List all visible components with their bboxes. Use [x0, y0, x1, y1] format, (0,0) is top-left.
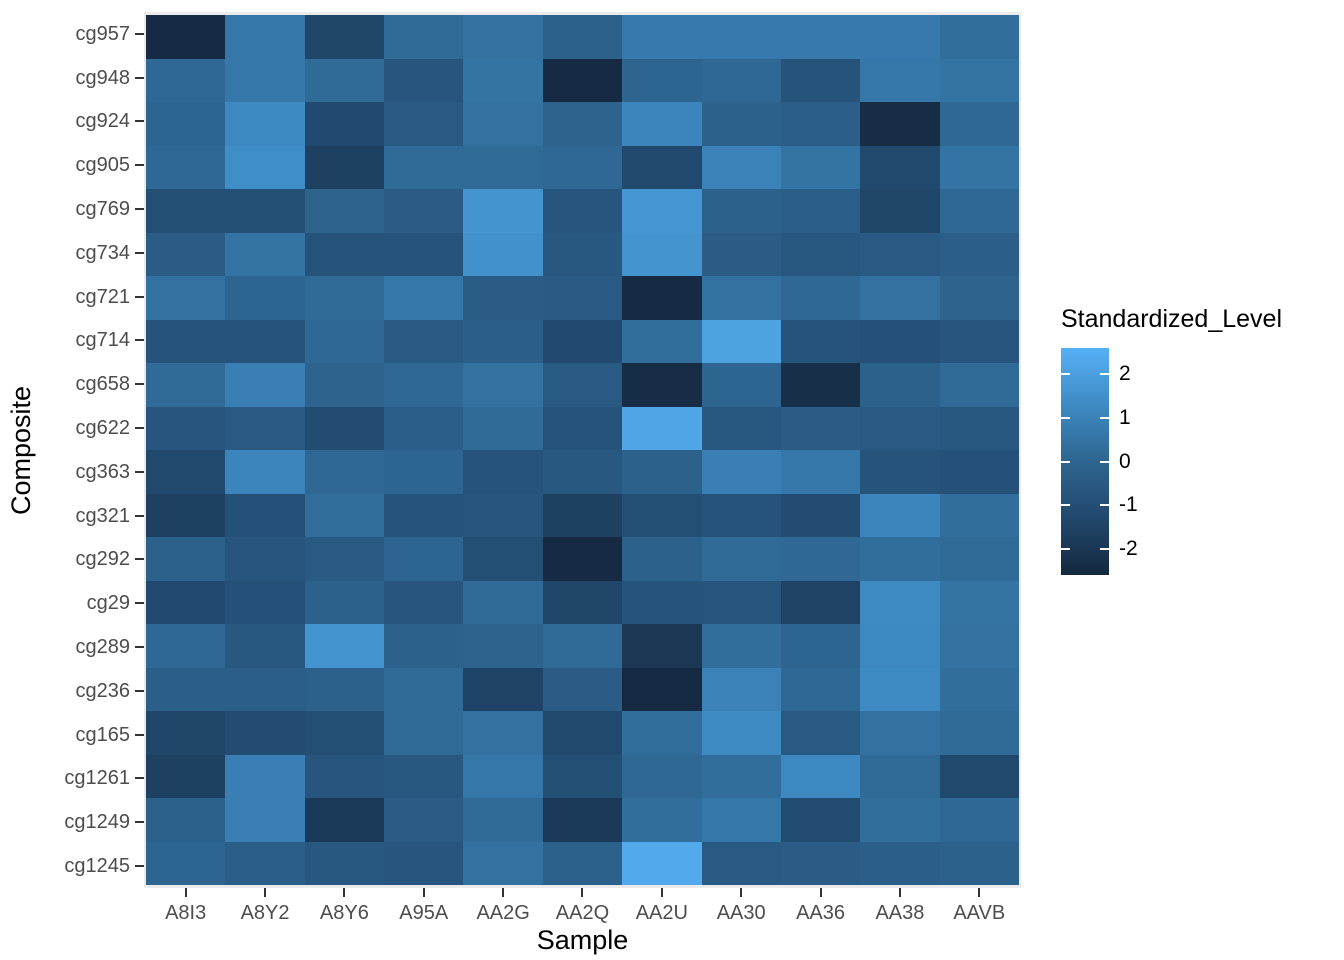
heatmap-cell: [622, 59, 701, 103]
heatmap-cell: [702, 798, 781, 842]
heatmap-cell: [543, 233, 622, 277]
heatmap-cell: [860, 450, 939, 494]
heatmap-cell: [305, 798, 384, 842]
legend-tick-mark-left: [1061, 548, 1070, 550]
legend-tick-mark-right: [1100, 504, 1109, 506]
heatmap-cell: [781, 407, 860, 451]
heatmap-cell: [702, 711, 781, 755]
heatmap-cell: [781, 320, 860, 364]
heatmap-cell: [305, 842, 384, 886]
heatmap-cell: [384, 581, 463, 625]
heatmap-cell: [781, 146, 860, 190]
heatmap-cell: [463, 15, 542, 59]
y-tick-label: cg321: [44, 494, 132, 538]
heatmap-cell: [702, 59, 781, 103]
heatmap-cell: [146, 189, 225, 233]
heatmap-cell: [860, 842, 939, 886]
y-tick-mark: [134, 319, 144, 363]
y-tick-mark: [134, 100, 144, 144]
heatmap-cell: [702, 755, 781, 799]
x-tick-label: AA30: [702, 899, 781, 927]
heatmap-cell: [305, 407, 384, 451]
heatmap-cell: [384, 711, 463, 755]
heatmap-cell: [543, 755, 622, 799]
legend-tick-mark-right: [1100, 461, 1109, 463]
heatmap-cell: [305, 233, 384, 277]
legend: Standardized_Level 210-1-2: [1057, 305, 1327, 578]
heatmap-cell: [940, 537, 1019, 581]
x-tick-mark: [384, 888, 463, 898]
y-tick-label: cg292: [44, 538, 132, 582]
y-tick-label: cg769: [44, 187, 132, 231]
heatmap-cell: [305, 668, 384, 712]
heatmap-cell: [702, 624, 781, 668]
heatmap-cell: [940, 624, 1019, 668]
heatmap-cell: [860, 146, 939, 190]
y-tick-mark: [134, 625, 144, 669]
legend-title: Standardized_Level: [1061, 305, 1327, 334]
heatmap-cell: [384, 276, 463, 320]
legend-tick-mark-right: [1100, 548, 1109, 550]
legend-tick-mark-left: [1061, 417, 1070, 419]
heatmap-cell: [146, 320, 225, 364]
heatmap-cell: [146, 233, 225, 277]
x-tick-label: A8Y2: [225, 899, 304, 927]
y-tick-mark: [134, 362, 144, 406]
y-tick-mark: [134, 56, 144, 100]
legend-tick-mark-left: [1061, 461, 1070, 463]
heatmap-cell: [225, 320, 304, 364]
heatmap-cell: [543, 842, 622, 886]
heatmap-cell: [781, 494, 860, 538]
heatmap-cell: [702, 189, 781, 233]
heatmap-cell: [702, 363, 781, 407]
heatmap-cell: [702, 581, 781, 625]
heatmap-cell: [622, 276, 701, 320]
y-tick-mark: [134, 669, 144, 713]
heatmap-cell: [860, 668, 939, 712]
x-tick-mark: [146, 888, 225, 898]
heatmap-cell: [146, 15, 225, 59]
y-tick-label: cg289: [44, 625, 132, 669]
y-tick-mark: [134, 581, 144, 625]
heatmap-cell: [940, 494, 1019, 538]
heatmap-cell: [940, 146, 1019, 190]
heatmap-cell: [463, 276, 542, 320]
heatmap-cell: [543, 798, 622, 842]
heatmap-cell: [622, 755, 701, 799]
y-tick-label: cg957: [44, 12, 132, 56]
heatmap-cell: [781, 537, 860, 581]
heatmap-cell: [305, 189, 384, 233]
heatmap-cell: [622, 711, 701, 755]
heatmap-cell: [146, 798, 225, 842]
heatmap-cell: [781, 189, 860, 233]
heatmap-cell: [146, 842, 225, 886]
y-tick-label: cg714: [44, 319, 132, 363]
legend-tick-label: -1: [1119, 492, 1138, 518]
x-tick-mark: [225, 888, 304, 898]
heatmap-cell: [860, 59, 939, 103]
heatmap-cell: [860, 407, 939, 451]
heatmap-cell: [702, 668, 781, 712]
y-tick-label: cg1261: [44, 757, 132, 801]
x-tick-label: A8I3: [146, 899, 225, 927]
heatmap-cell: [384, 15, 463, 59]
heatmap-cell: [305, 15, 384, 59]
heatmap-cell: [622, 102, 701, 146]
legend-tick-mark-left: [1061, 504, 1070, 506]
heatmap-cell: [622, 537, 701, 581]
heatmap-cell: [543, 407, 622, 451]
heatmap-panel: [144, 12, 1021, 888]
heatmap-cell: [702, 494, 781, 538]
y-tick-mark: [134, 538, 144, 582]
heatmap-cell: [702, 842, 781, 886]
y-tick-label: cg905: [44, 143, 132, 187]
heatmap-cell: [781, 842, 860, 886]
heatmap-cell: [622, 146, 701, 190]
heatmap-cell: [384, 102, 463, 146]
heatmap-cell: [305, 320, 384, 364]
heatmap-cell: [940, 320, 1019, 364]
y-tick-mark: [134, 12, 144, 56]
heatmap-cell: [622, 494, 701, 538]
heatmap-cell: [940, 668, 1019, 712]
heatmap-cell: [781, 798, 860, 842]
heatmap-cell: [384, 842, 463, 886]
heatmap-cell: [146, 711, 225, 755]
y-tick-mark: [134, 800, 144, 844]
x-tick-mark: [702, 888, 781, 898]
x-tick-mark: [463, 888, 542, 898]
heatmap-cell: [543, 581, 622, 625]
heatmap-cell: [860, 102, 939, 146]
heatmap-cell: [225, 59, 304, 103]
y-tick-label: cg721: [44, 275, 132, 319]
y-tick-mark: [134, 187, 144, 231]
heatmap-cell: [384, 537, 463, 581]
heatmap-cell: [860, 15, 939, 59]
heatmap-cell: [543, 668, 622, 712]
heatmap-cell: [225, 537, 304, 581]
heatmap-cell: [940, 233, 1019, 277]
legend-tick-label: -2: [1119, 536, 1138, 562]
heatmap-cell: [702, 320, 781, 364]
heatmap-cell: [463, 102, 542, 146]
heatmap-cell: [146, 363, 225, 407]
y-tick-mark: [134, 844, 144, 888]
heatmap-cell: [781, 668, 860, 712]
heatmap-cell: [146, 276, 225, 320]
heatmap-cell: [146, 102, 225, 146]
heatmap-cell: [860, 494, 939, 538]
heatmap-cell: [860, 581, 939, 625]
x-tick-label: AA38: [860, 899, 939, 927]
heatmap-cell: [940, 711, 1019, 755]
heatmap-cell: [940, 189, 1019, 233]
heatmap-cell: [305, 755, 384, 799]
heatmap-cell: [463, 494, 542, 538]
heatmap-cell: [622, 320, 701, 364]
heatmap-cell: [146, 581, 225, 625]
heatmap-cell: [463, 320, 542, 364]
y-tick-label: cg734: [44, 231, 132, 275]
heatmap-cell: [860, 798, 939, 842]
heatmap-cell: [543, 189, 622, 233]
heatmap-cell: [622, 798, 701, 842]
heatmap-cell: [225, 102, 304, 146]
heatmap-cell: [384, 59, 463, 103]
heatmap-cell: [702, 537, 781, 581]
legend-tick-label: 2: [1119, 361, 1131, 387]
heatmap-cell: [622, 407, 701, 451]
heatmap-cell: [225, 668, 304, 712]
heatmap-cell: [146, 668, 225, 712]
heatmap-cell: [940, 276, 1019, 320]
heatmap-cell: [146, 624, 225, 668]
heatmap-cell: [384, 624, 463, 668]
y-axis-tick-labels: cg957cg948cg924cg905cg769cg734cg721cg714…: [44, 12, 132, 888]
heatmap-cell: [781, 276, 860, 320]
heatmap-cell: [781, 363, 860, 407]
heatmap-cell: [225, 189, 304, 233]
heatmap-cell: [543, 624, 622, 668]
heatmap-cell: [860, 624, 939, 668]
heatmap-cell: [305, 146, 384, 190]
heatmap-cell: [463, 189, 542, 233]
heatmap-cell: [305, 624, 384, 668]
heatmap-cell: [781, 711, 860, 755]
y-tick-label: cg1245: [44, 844, 132, 888]
heatmap-cell: [463, 407, 542, 451]
heatmap-cell: [543, 494, 622, 538]
heatmap-cell: [384, 494, 463, 538]
heatmap-cell: [622, 363, 701, 407]
heatmap-grid: [146, 15, 1019, 885]
heatmap-cell: [622, 624, 701, 668]
y-tick-mark: [134, 406, 144, 450]
heatmap-cell: [702, 407, 781, 451]
heatmap-cell: [702, 146, 781, 190]
heatmap-cell: [305, 450, 384, 494]
x-tick-mark: [622, 888, 701, 898]
heatmap-cell: [225, 494, 304, 538]
heatmap-cell: [860, 711, 939, 755]
heatmap-cell: [781, 59, 860, 103]
heatmap-cell: [463, 363, 542, 407]
heatmap-cell: [543, 146, 622, 190]
heatmap-cell: [305, 59, 384, 103]
x-tick-label: AA2Q: [543, 899, 622, 927]
heatmap-cell: [225, 233, 304, 277]
heatmap-cell: [225, 407, 304, 451]
heatmap-cell: [940, 407, 1019, 451]
legend-body: 210-1-2: [1057, 348, 1327, 578]
heatmap-cell: [940, 59, 1019, 103]
heatmap-cell: [940, 363, 1019, 407]
heatmap-cell: [781, 755, 860, 799]
heatmap-cell: [463, 711, 542, 755]
heatmap-cell: [463, 537, 542, 581]
y-tick-label: cg658: [44, 362, 132, 406]
heatmap-cell: [860, 233, 939, 277]
heatmap-cell: [384, 146, 463, 190]
heatmap-cell: [860, 276, 939, 320]
heatmap-cell: [702, 102, 781, 146]
heatmap-cell: [146, 755, 225, 799]
heatmap-cell: [463, 842, 542, 886]
x-tick-label: AA2G: [463, 899, 542, 927]
heatmap-cell: [384, 320, 463, 364]
heatmap-cell: [463, 233, 542, 277]
heatmap-cell: [463, 146, 542, 190]
heatmap-cell: [622, 233, 701, 277]
x-tick-label: A95A: [384, 899, 463, 927]
heatmap-cell: [146, 407, 225, 451]
y-tick-mark: [134, 450, 144, 494]
heatmap-cell: [940, 102, 1019, 146]
y-tick-label: cg236: [44, 669, 132, 713]
heatmap-cell: [622, 668, 701, 712]
heatmap-cell: [940, 15, 1019, 59]
heatmap-cell: [305, 494, 384, 538]
heatmap-cell: [305, 711, 384, 755]
y-tick-mark: [134, 757, 144, 801]
heatmap-figure: Composite cg957cg948cg924cg905cg769cg734…: [0, 0, 1344, 960]
y-tick-mark: [134, 713, 144, 757]
heatmap-cell: [463, 624, 542, 668]
heatmap-cell: [146, 537, 225, 581]
heatmap-cell: [384, 233, 463, 277]
legend-tick-mark-right: [1100, 417, 1109, 419]
heatmap-cell: [384, 363, 463, 407]
y-tick-mark: [134, 494, 144, 538]
heatmap-cell: [860, 320, 939, 364]
y-tick-label: cg948: [44, 56, 132, 100]
heatmap-cell: [225, 798, 304, 842]
heatmap-cell: [305, 581, 384, 625]
x-tick-label: AA36: [781, 899, 860, 927]
heatmap-cell: [225, 755, 304, 799]
heatmap-cell: [543, 363, 622, 407]
heatmap-cell: [146, 450, 225, 494]
heatmap-cell: [702, 233, 781, 277]
heatmap-cell: [543, 59, 622, 103]
heatmap-cell: [781, 102, 860, 146]
heatmap-cell: [543, 711, 622, 755]
heatmap-cell: [702, 450, 781, 494]
x-axis-title: Sample: [146, 925, 1019, 956]
heatmap-cell: [543, 450, 622, 494]
heatmap-cell: [781, 624, 860, 668]
heatmap-cell: [146, 494, 225, 538]
heatmap-cell: [940, 450, 1019, 494]
legend-tick-mark-left: [1061, 373, 1070, 375]
legend-tick-label: 0: [1119, 449, 1131, 475]
heatmap-cell: [225, 450, 304, 494]
y-tick-label: cg622: [44, 406, 132, 450]
heatmap-cell: [225, 581, 304, 625]
heatmap-cell: [146, 146, 225, 190]
heatmap-cell: [781, 15, 860, 59]
x-tick-label: AAVB: [940, 899, 1019, 927]
heatmap-cell: [702, 276, 781, 320]
heatmap-cell: [225, 146, 304, 190]
heatmap-cell: [384, 668, 463, 712]
y-tick-mark: [134, 231, 144, 275]
heatmap-cell: [860, 755, 939, 799]
y-tick-label: cg1249: [44, 800, 132, 844]
heatmap-cell: [622, 15, 701, 59]
heatmap-cell: [384, 189, 463, 233]
x-tick-mark: [940, 888, 1019, 898]
heatmap-cell: [384, 407, 463, 451]
heatmap-cell: [860, 363, 939, 407]
heatmap-cell: [225, 711, 304, 755]
heatmap-cell: [225, 15, 304, 59]
heatmap-cell: [543, 102, 622, 146]
heatmap-cell: [463, 581, 542, 625]
heatmap-cell: [305, 363, 384, 407]
heatmap-cell: [940, 755, 1019, 799]
x-tick-label: A8Y6: [305, 899, 384, 927]
heatmap-cell: [225, 624, 304, 668]
x-axis-tick-marks: [146, 888, 1019, 898]
y-tick-mark: [134, 275, 144, 319]
x-tick-mark: [781, 888, 860, 898]
heatmap-cell: [463, 668, 542, 712]
heatmap-cell: [543, 15, 622, 59]
heatmap-cell: [305, 276, 384, 320]
heatmap-cell: [940, 798, 1019, 842]
heatmap-cell: [940, 581, 1019, 625]
heatmap-cell: [622, 189, 701, 233]
heatmap-cell: [860, 537, 939, 581]
heatmap-cell: [146, 59, 225, 103]
heatmap-cell: [622, 842, 701, 886]
heatmap-cell: [781, 581, 860, 625]
heatmap-cell: [860, 189, 939, 233]
heatmap-cell: [622, 581, 701, 625]
heatmap-cell: [463, 450, 542, 494]
heatmap-cell: [463, 755, 542, 799]
heatmap-cell: [543, 276, 622, 320]
y-axis-title-text: Composite: [7, 385, 38, 514]
heatmap-cell: [384, 755, 463, 799]
x-tick-mark: [543, 888, 622, 898]
y-tick-label: cg29: [44, 581, 132, 625]
x-tick-mark: [305, 888, 384, 898]
heatmap-cell: [384, 798, 463, 842]
heatmap-cell: [305, 102, 384, 146]
heatmap-cell: [305, 537, 384, 581]
heatmap-cell: [463, 798, 542, 842]
y-axis-tick-marks: [134, 12, 144, 888]
heatmap-cell: [225, 276, 304, 320]
heatmap-cell: [702, 15, 781, 59]
y-tick-label: cg363: [44, 450, 132, 494]
x-tick-label: AA2U: [622, 899, 701, 927]
heatmap-cell: [543, 537, 622, 581]
heatmap-cell: [781, 450, 860, 494]
x-tick-mark: [860, 888, 939, 898]
y-tick-mark: [134, 143, 144, 187]
y-tick-label: cg924: [44, 100, 132, 144]
heatmap-cell: [781, 233, 860, 277]
heatmap-cell: [225, 363, 304, 407]
y-axis-title: Composite: [0, 0, 44, 900]
